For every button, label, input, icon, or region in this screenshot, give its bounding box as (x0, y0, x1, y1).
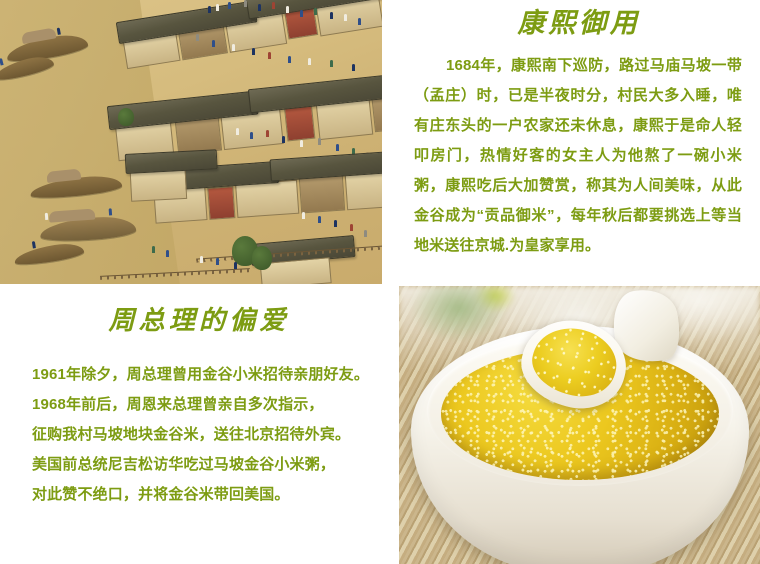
painting-roof (125, 149, 218, 174)
millet-porridge-photo (399, 286, 760, 564)
painting-figure (350, 224, 353, 231)
zhou-body-line: 1961年除夕，周总理曾用金谷小米招待亲朋好友。 (32, 360, 392, 390)
painting-figure (252, 48, 255, 55)
boat-cabin (49, 208, 96, 222)
painting-figure (330, 60, 333, 67)
painting-wall (284, 105, 315, 142)
painting-figure (212, 40, 215, 47)
painting-figure (200, 256, 203, 263)
painting-figure (109, 208, 112, 215)
painting-figure (266, 130, 269, 137)
kangxi-section-title: 康熙御用 (398, 0, 760, 37)
painting-wall (299, 174, 345, 213)
painting-wall (130, 169, 187, 202)
painting-figure (166, 250, 169, 257)
painting-figure (308, 58, 311, 65)
painting-figure (318, 138, 321, 145)
painting-figure (286, 6, 289, 13)
painting-figure (268, 52, 271, 59)
painting-figure (258, 4, 261, 11)
painting-figure (236, 128, 239, 135)
painting-figure (232, 44, 235, 51)
painting-figure (282, 136, 285, 143)
painting-figure (216, 258, 219, 265)
kangxi-section-body: 1684年，康熙南下巡防，路过马庙马坡一带（孟庄）时，已是半夜时分，村民大多入睡… (398, 51, 760, 261)
painting-figure (216, 4, 219, 11)
zhou-story-section: 周总理的偏爱 1961年除夕，周总理曾用金谷小米招待亲朋好友。 1968年前后，… (0, 286, 398, 564)
painting-tree (252, 246, 272, 270)
painting-figure (300, 140, 303, 147)
painting-figure (334, 220, 337, 227)
zhou-body-line: 征购我村马坡地块金谷米，送往北京招待外宾。 (32, 420, 392, 450)
painting-figure (314, 8, 317, 15)
painting-tree (118, 108, 134, 126)
painting-figure (208, 6, 211, 13)
zhou-section-title: 周总理的偏爱 (0, 286, 398, 334)
painting-figure (272, 2, 275, 9)
qingming-scroll-painting (0, 0, 382, 284)
painting-figure (196, 34, 199, 41)
painting-figure (358, 18, 361, 25)
painting-figure (288, 56, 291, 63)
painting-figure (300, 10, 303, 17)
painting-figure (344, 14, 347, 21)
painting-figure (318, 216, 321, 223)
zhou-body-line: 美国前总统尼吉松访华吃过马坡金谷小米粥， (32, 450, 392, 480)
painting-wall (345, 171, 382, 210)
zhou-body-line: 1968年前后，周恩来总理曾亲自多次指示， (32, 390, 392, 420)
product-story-page: 康熙御用 1684年，康熙南下巡防，路过马庙马坡一带（孟庄）时，已是半夜时分，村… (0, 0, 760, 564)
painting-figure (330, 12, 333, 19)
painting-figure (234, 262, 237, 269)
painting-figure (244, 0, 247, 7)
zhou-body-line: 对此赞不绝口，并将金谷米带回美国。 (32, 480, 392, 510)
painting-figure (228, 2, 231, 9)
painting-figure (250, 132, 253, 139)
kangxi-story-section: 康熙御用 1684年，康熙南下巡防，路过马庙马坡一带（孟庄）时，已是半夜时分，村… (398, 0, 760, 284)
zhou-section-body: 1961年除夕，周总理曾用金谷小米招待亲朋好友。 1968年前后，周恩来总理曾亲… (0, 360, 398, 510)
painting-figure (152, 246, 155, 253)
painting-figure (45, 213, 48, 220)
painting-figure (364, 230, 367, 237)
boat-cabin (46, 168, 81, 182)
painting-building-row (124, 142, 247, 208)
painting-figure (302, 212, 305, 219)
